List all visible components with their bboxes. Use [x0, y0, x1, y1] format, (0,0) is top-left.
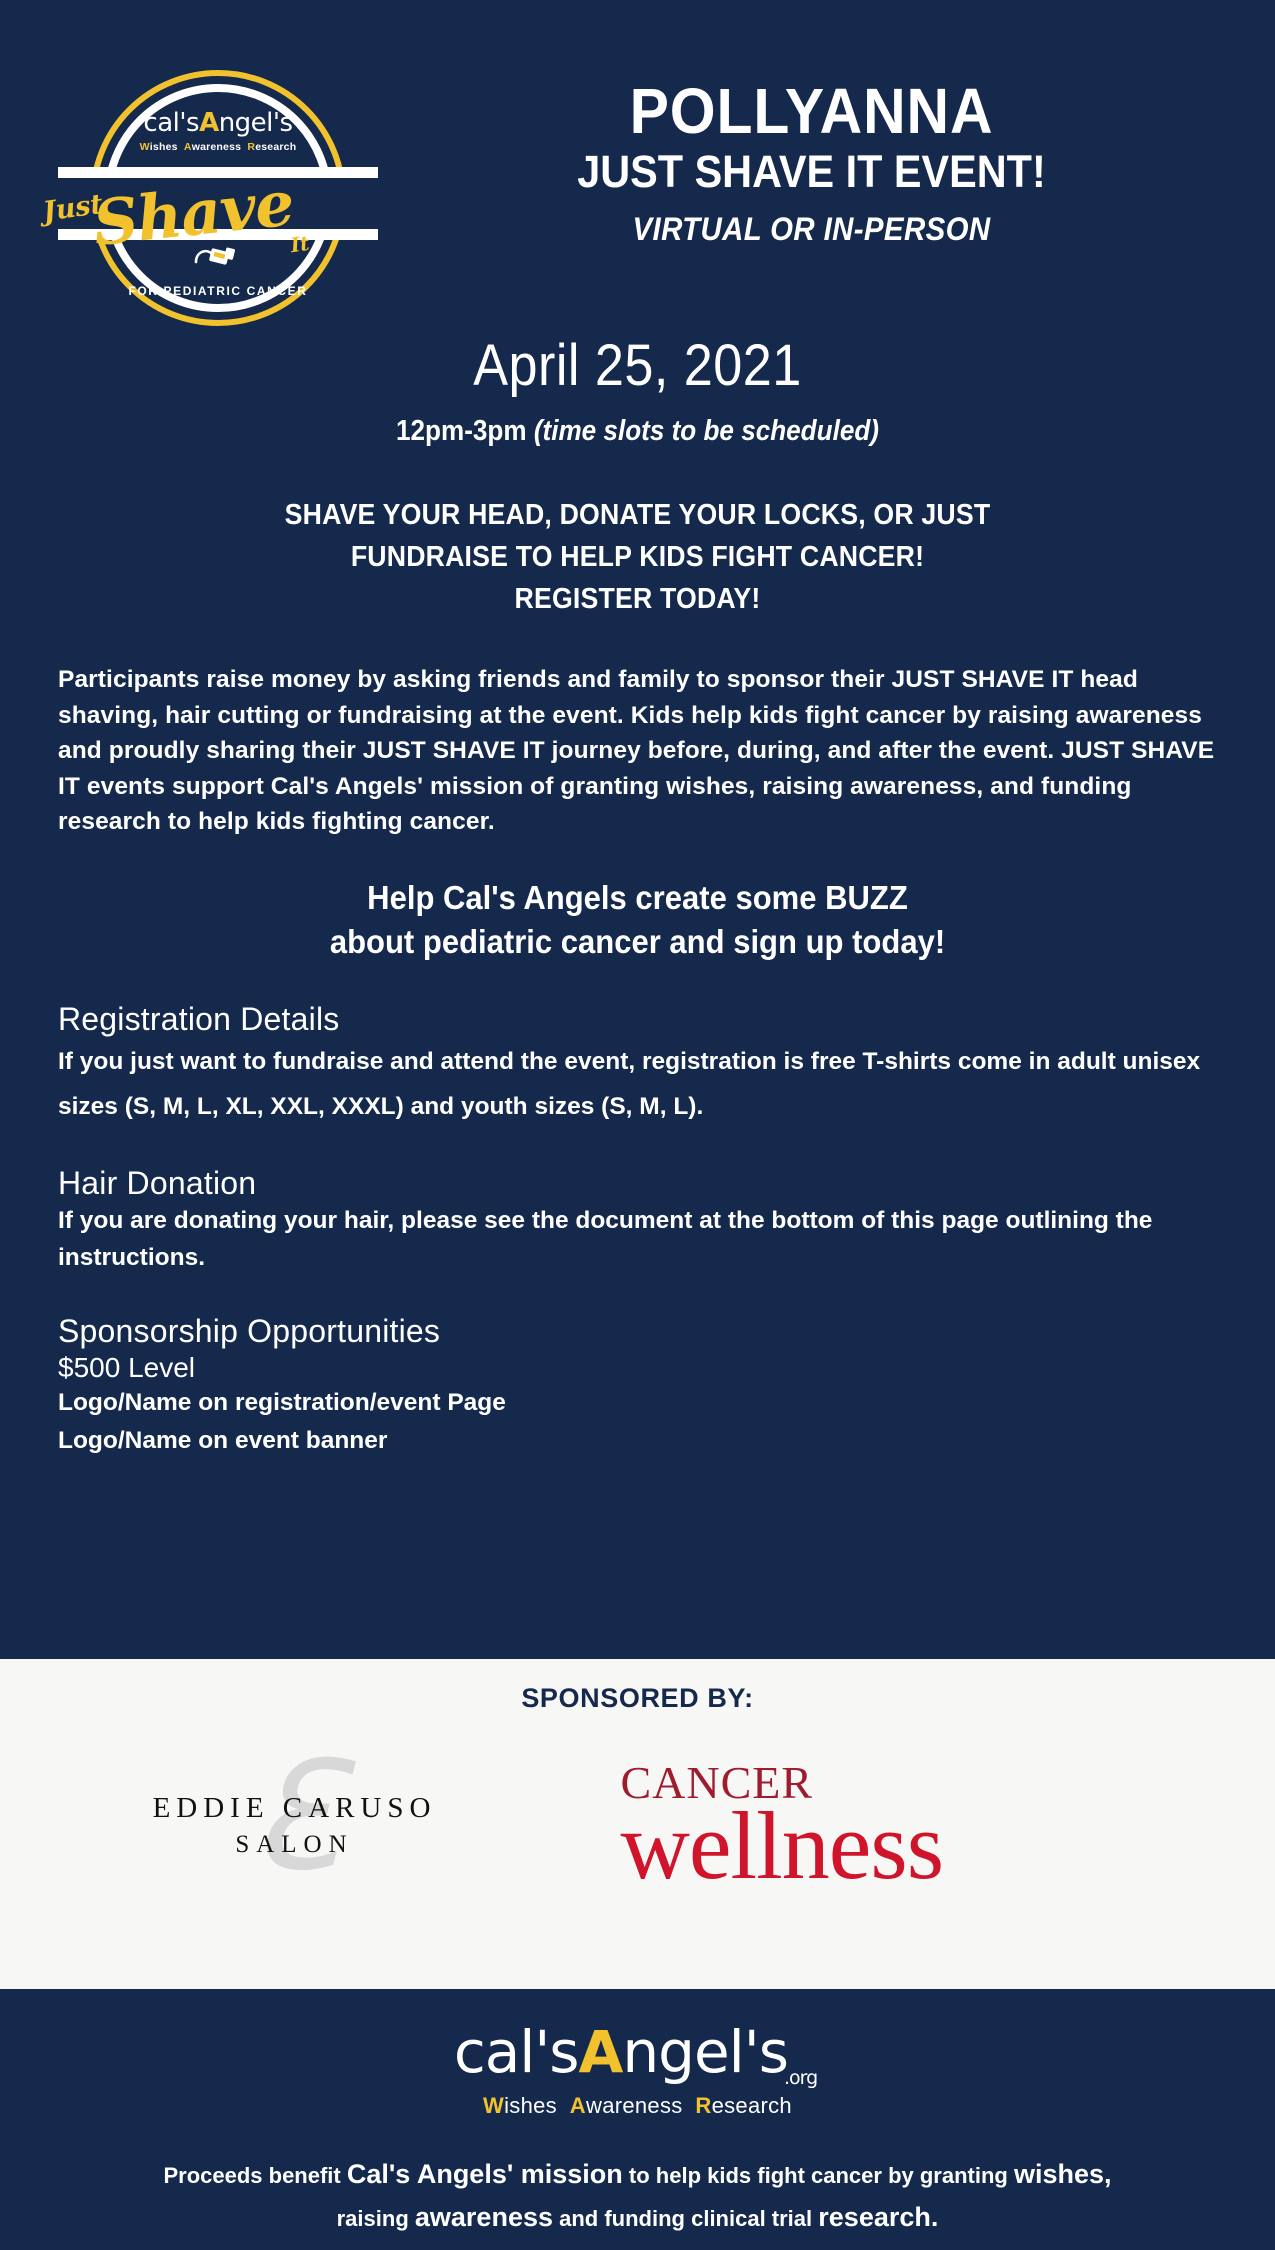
proceeds-bold-2: wishes,: [1014, 2159, 1112, 2189]
footer-proceeds-text: Proceeds benefit Cal's Angels' mission t…: [0, 2153, 1275, 2239]
eddie-caruso-name: EDDIE CARUSO: [75, 1736, 515, 1831]
badge-brand-ngels: ngel's: [219, 108, 293, 138]
hair-donation-text: If you are donating your hair, please se…: [58, 1203, 1217, 1277]
footer-tag-w: W: [483, 2093, 504, 2118]
sponsor-logo-eddie-caruso-salon: ℇ EDDIE CARUSO SALON: [75, 1736, 515, 1916]
proceeds-bold-4: research.: [818, 2202, 938, 2232]
eddie-caruso-sub: SALON: [75, 1831, 515, 1859]
badge-arc-text: FOR PEDIATRIC CANCER: [58, 284, 378, 298]
buzz-line-2: about pediatric cancer and sign up today…: [93, 920, 1182, 965]
buzz-callout: Help Cal's Angels create some BUZZ about…: [93, 876, 1182, 965]
buzz-line-1: Help Cal's Angels create some BUZZ: [93, 876, 1182, 921]
footer: cal'sAngel's.org Wishes Awareness Resear…: [0, 1989, 1275, 2250]
badge-script-lockup: JustShaveIt: [58, 164, 378, 237]
footer-cals-angels-logo: cal'sAngel's.org: [0, 1989, 1275, 2081]
proceeds-bold-3: awareness: [415, 2202, 553, 2232]
call-to-action: SHAVE YOUR HEAD, DONATE YOUR LOCKS, OR J…: [51, 494, 1224, 620]
sponsor-logo-row: ℇ EDDIE CARUSO SALON CANCER wellness: [0, 1736, 1275, 1916]
header: cal'sAngel's Wishes Awareness Research J…: [0, 0, 1275, 290]
footer-tag-research: esearch: [712, 2093, 792, 2118]
cta-line-3: REGISTER TODAY!: [51, 578, 1224, 620]
footer-tag-wishes: ishes: [504, 2093, 557, 2118]
sponsorship-level: $500 Level: [58, 1352, 1217, 1384]
registration-details-text: If you just want to fundraise and attend…: [58, 1039, 1217, 1130]
sponsor-band: SPONSORED BY: ℇ EDDIE CARUSO SALON CANCE…: [0, 1659, 1275, 1989]
proceeds-part-3: raising: [337, 2206, 409, 2231]
tagline-a: A: [184, 141, 192, 153]
sponsorship-benefit-1: Logo/Name on registration/event Page: [58, 1385, 1217, 1422]
event-time: 12pm-3pm (time slots to be scheduled): [64, 415, 1212, 448]
proceeds-part-2: to help kids fight cancer by granting: [629, 2163, 1008, 2188]
event-date: April 25, 2021: [64, 332, 1212, 399]
sponsorship-heading: Sponsorship Opportunities: [58, 1313, 1217, 1350]
badge-brand-cal: cal's: [143, 108, 199, 138]
page-title: POLLYANNA: [413, 78, 1211, 145]
proceeds-part-1: Proceeds benefit: [163, 2163, 340, 2188]
section-registration-details: Registration Details If you just want to…: [58, 1001, 1217, 1130]
badge-cals-angels-lockup: cal'sAngel's Wishes Awareness Research: [58, 110, 378, 153]
ribbon-icon: A: [199, 108, 219, 138]
page-subtitle-2: VIRTUAL OR IN-PERSON: [413, 211, 1211, 248]
footer-tagline: Wishes Awareness Research: [0, 2093, 1275, 2119]
footer-org-suffix: .org: [784, 2067, 817, 2089]
proceeds-bold-1: Cal's Angels' mission: [347, 2159, 623, 2189]
footer-tag-awareness: wareness: [586, 2093, 683, 2118]
tagline-w: W: [140, 141, 150, 153]
tagline-wishes: ishes: [150, 141, 178, 153]
event-flyer: cal'sAngel's Wishes Awareness Research J…: [0, 0, 1275, 2250]
tagline-awareness: wareness: [192, 141, 241, 153]
section-sponsorship: Sponsorship Opportunities $500 Level Log…: [58, 1313, 1217, 1460]
title-block: POLLYANNA JUST SHAVE IT EVENT! VIRTUAL O…: [378, 52, 1275, 248]
registration-details-heading: Registration Details: [58, 1001, 1217, 1038]
ribbon-icon: A: [579, 2018, 623, 2086]
clipper-icon: [194, 242, 240, 280]
just-shave-it-badge-logo: cal'sAngel's Wishes Awareness Research J…: [58, 52, 378, 352]
intro-paragraph: Participants raise money by asking frien…: [58, 662, 1217, 840]
event-time-range: 12pm-3pm: [396, 415, 527, 447]
content-body: Participants raise money by asking frien…: [0, 662, 1275, 1459]
cta-line-2: FUNDRAISE TO HELP KIDS FIGHT CANCER!: [51, 536, 1224, 578]
page-subtitle: JUST SHAVE IT EVENT!: [413, 147, 1211, 197]
hair-donation-heading: Hair Donation: [58, 1165, 1217, 1202]
footer-tag-a: A: [570, 2093, 586, 2118]
tagline-research: esearch: [255, 141, 296, 153]
section-hair-donation: Hair Donation If you are donating your h…: [58, 1165, 1217, 1277]
event-time-note: (time slots to be scheduled): [534, 415, 879, 447]
sponsorship-benefit-2: Logo/Name on event banner: [58, 1423, 1217, 1460]
footer-tag-r: R: [695, 2093, 711, 2118]
proceeds-part-4: and funding clinical trial: [559, 2206, 812, 2231]
badge-brand-text: cal'sAngel's: [58, 110, 378, 136]
script-it: It: [289, 231, 311, 257]
footer-brand-cal: cal's: [454, 2018, 579, 2086]
cancer-wellness-wellness: wellness: [621, 1800, 1201, 1891]
badge-tagline: Wishes Awareness Research: [58, 141, 378, 153]
footer-brand-ngels: ngel's: [622, 2018, 788, 2086]
cta-line-1: SHAVE YOUR HEAD, DONATE YOUR LOCKS, OR J…: [51, 494, 1224, 536]
sponsor-logo-cancer-wellness: CANCER wellness: [611, 1760, 1201, 1891]
sponsored-by-heading: SPONSORED BY:: [0, 1659, 1275, 1714]
